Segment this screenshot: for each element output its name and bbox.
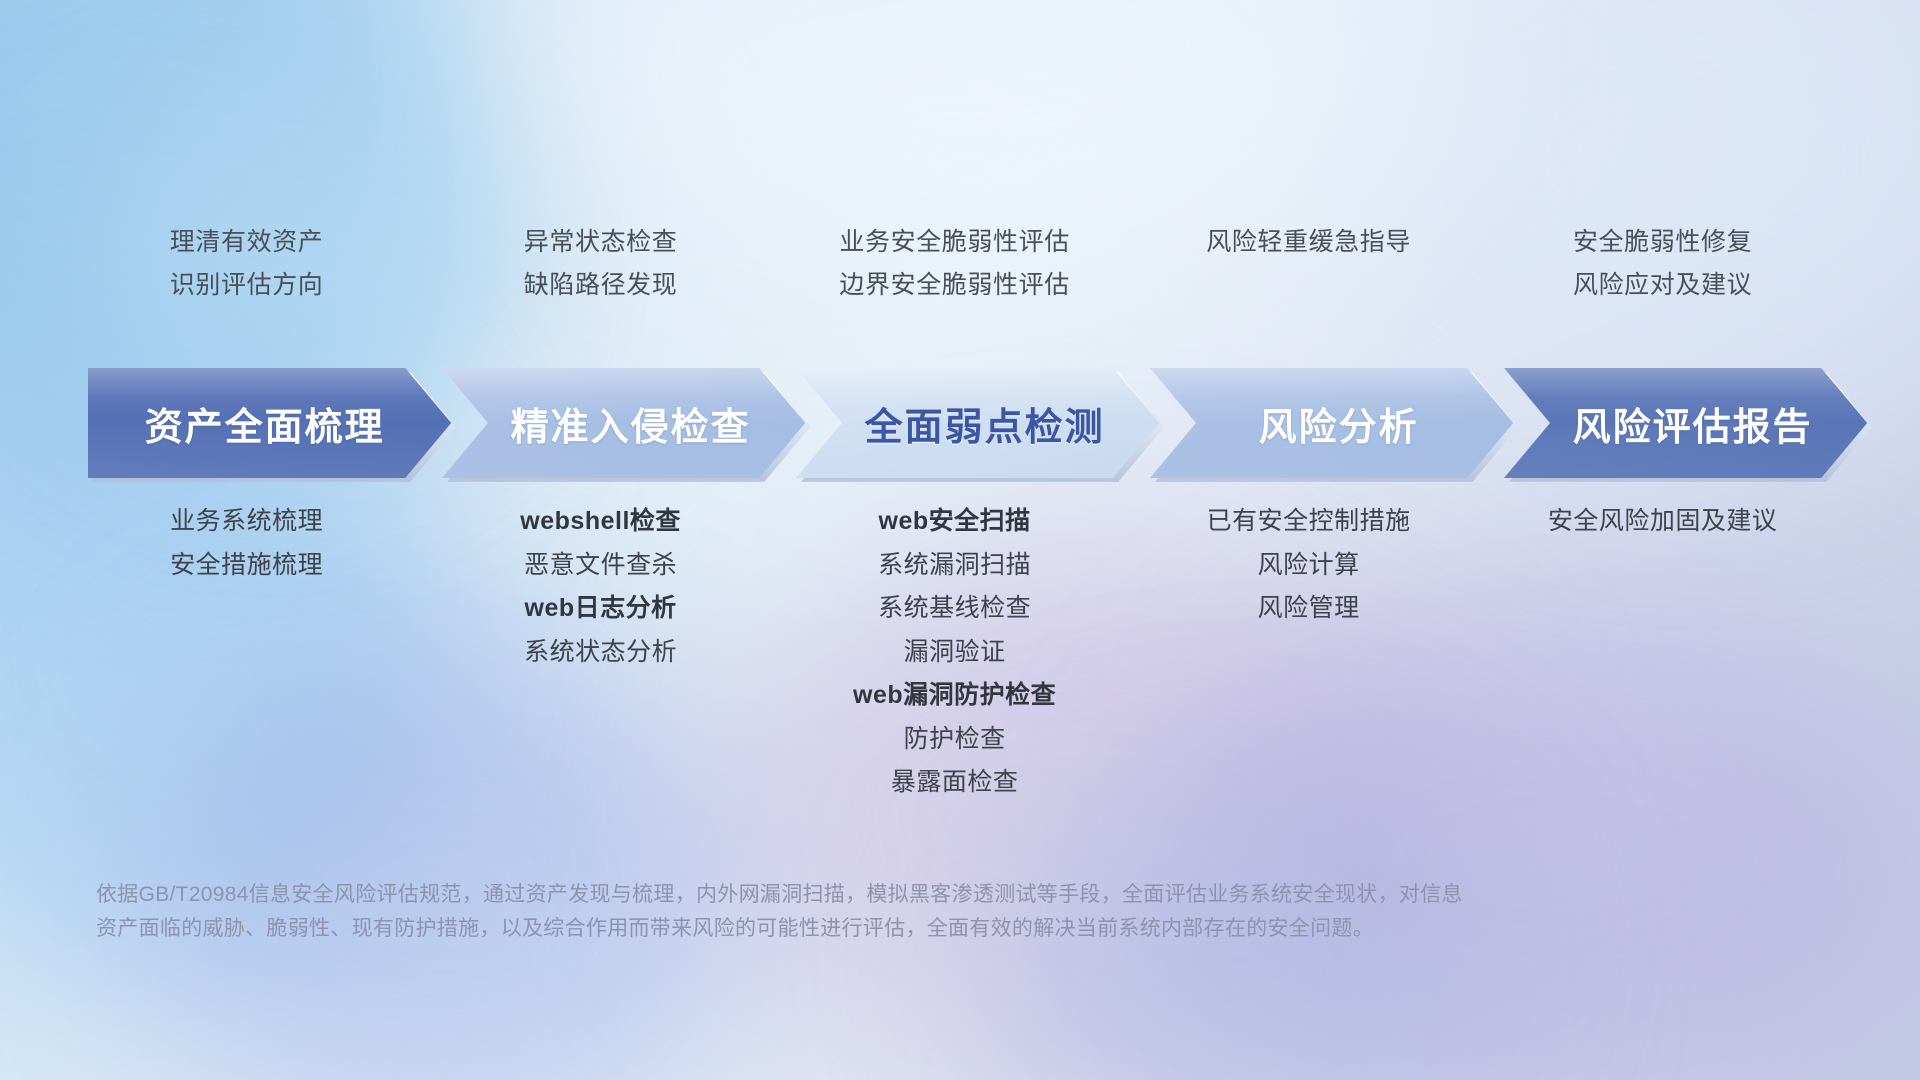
process-arrow-band: 资产全面梳理精准入侵检查全面弱点检测风险分析风险评估报告 xyxy=(88,368,1858,478)
top-note-column: 安全脆弱性修复风险应对及建议 xyxy=(1413,228,1913,300)
top-notes-row: 理清有效资产识别评估方向异常状态检查缺陷路径发现业务安全脆弱性评估边界安全脆弱性… xyxy=(0,228,1920,338)
top-note-line: 风险轻重缓急指导 xyxy=(1206,228,1411,257)
detail-item: 业务系统梳理 xyxy=(170,508,323,536)
footer-line-1: 依据GB/T20984信息安全风险评估规范，通过资产发现与梳理，内外网漏洞扫描，… xyxy=(96,878,1616,912)
detail-item: 安全措施梳理 xyxy=(170,552,323,580)
detail-item: 安全风险加固及建议 xyxy=(1548,508,1778,536)
top-note-line: 缺陷路径发现 xyxy=(524,271,678,300)
detail-item: 防护检查 xyxy=(904,726,1006,754)
process-stage-arrow[interactable]: 风险分析 xyxy=(1150,368,1513,478)
top-note-line: 识别评估方向 xyxy=(170,271,324,300)
top-note-line: 风险应对及建议 xyxy=(1573,271,1752,300)
process-stage-label: 全面弱点检测 xyxy=(865,396,1105,451)
top-note-line: 理清有效资产 xyxy=(170,228,324,257)
detail-item: web日志分析 xyxy=(525,595,677,623)
top-note-line: 边界安全脆弱性评估 xyxy=(839,271,1069,300)
detail-item: 系统基线检查 xyxy=(878,595,1031,623)
process-stage-label: 精准入侵检查 xyxy=(511,396,751,451)
detail-item: web漏洞防护检查 xyxy=(853,682,1056,710)
process-stage-arrow[interactable]: 全面弱点检测 xyxy=(796,368,1159,478)
detail-item: 暴露面检查 xyxy=(891,769,1019,797)
process-stage-label: 风险评估报告 xyxy=(1573,396,1813,451)
detail-item: 风险计算 xyxy=(1258,552,1360,580)
top-note-line: 安全脆弱性修复 xyxy=(1573,228,1752,257)
detail-item: webshell检查 xyxy=(520,508,681,536)
detail-item: web安全扫描 xyxy=(879,508,1031,536)
detail-item: 系统漏洞扫描 xyxy=(878,552,1031,580)
top-note-line: 业务安全脆弱性评估 xyxy=(839,228,1069,257)
process-stage-label: 风险分析 xyxy=(1259,396,1419,451)
process-stage-arrow[interactable]: 风险评估报告 xyxy=(1504,368,1867,478)
detail-column: 安全风险加固及建议 xyxy=(1413,508,1913,536)
detail-item: 系统状态分析 xyxy=(524,639,677,667)
footer-description: 依据GB/T20984信息安全风险评估规范，通过资产发现与梳理，内外网漏洞扫描，… xyxy=(96,878,1616,946)
process-stage-arrow[interactable]: 资产全面梳理 xyxy=(88,368,451,478)
detail-item: 已有安全控制措施 xyxy=(1207,508,1411,536)
detail-item: 风险管理 xyxy=(1258,595,1360,623)
detail-item: 漏洞验证 xyxy=(904,639,1006,667)
top-note-line: 异常状态检查 xyxy=(524,228,678,257)
footer-line-2: 资产面临的威胁、脆弱性、现有防护措施，以及综合作用而带来风险的可能性进行评估，全… xyxy=(96,912,1616,946)
process-stage-arrow[interactable]: 精准入侵检查 xyxy=(442,368,805,478)
detail-item: 恶意文件查杀 xyxy=(524,552,677,580)
process-stage-label: 资产全面梳理 xyxy=(145,396,385,451)
slide-content: 理清有效资产识别评估方向异常状态检查缺陷路径发现业务安全脆弱性评估边界安全脆弱性… xyxy=(0,0,1920,1080)
